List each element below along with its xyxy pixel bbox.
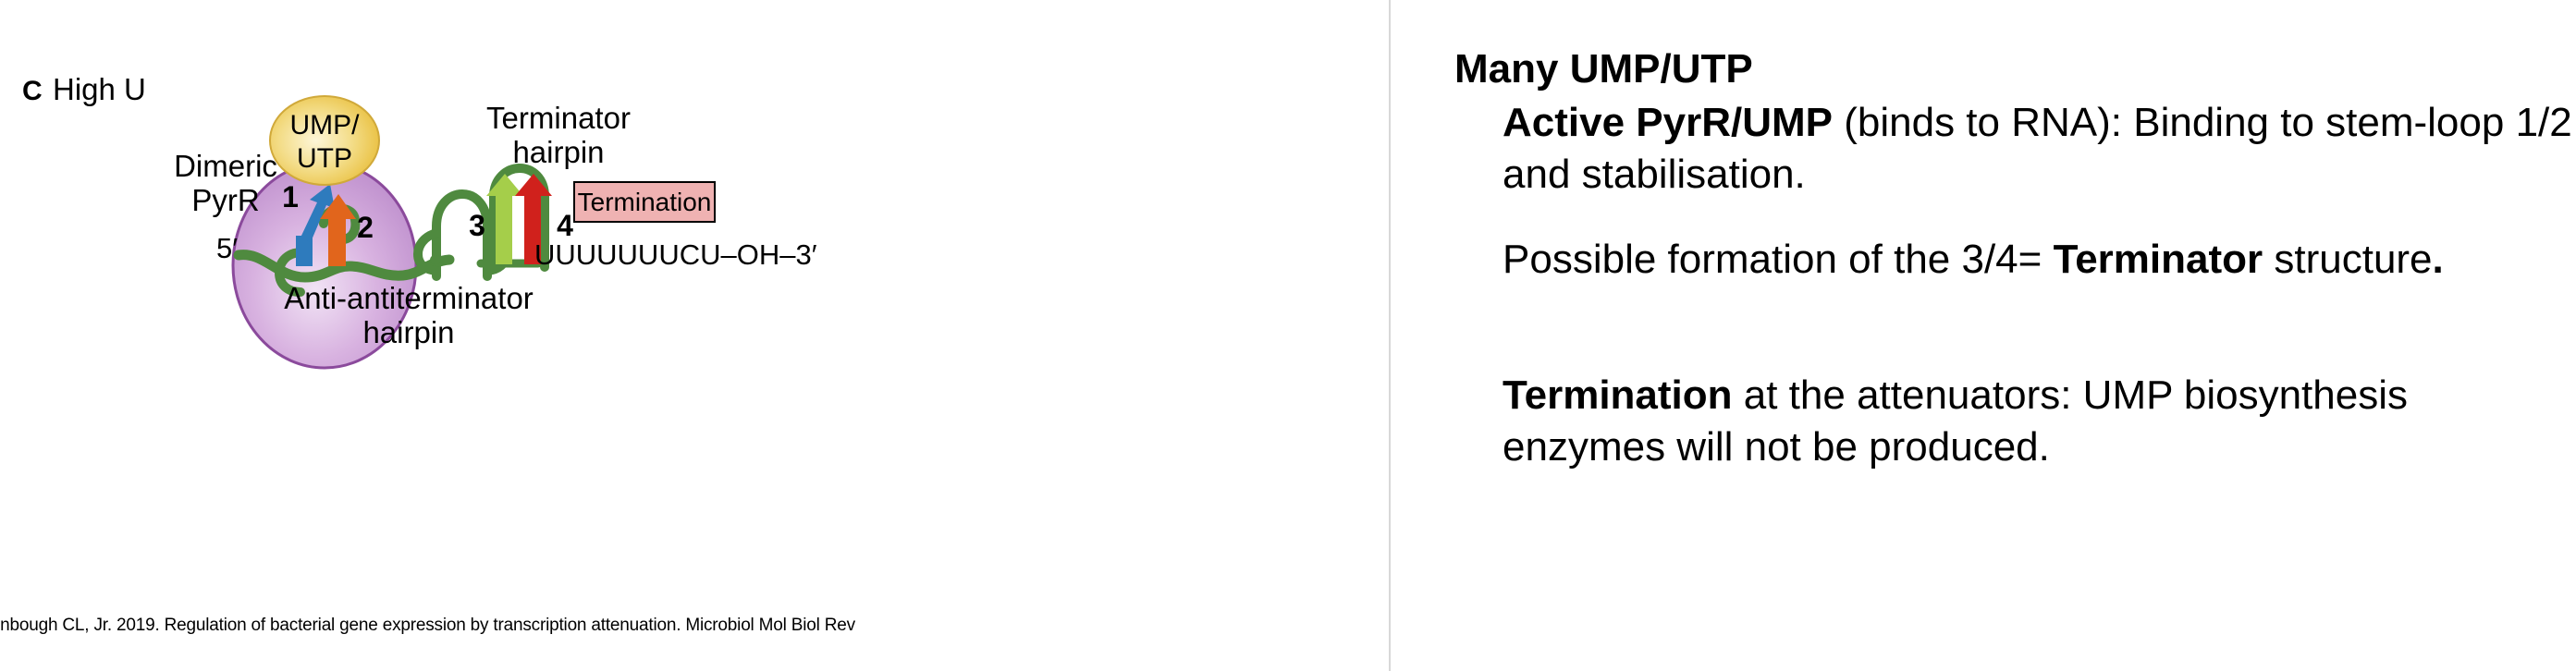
stem-number-4: 4 bbox=[557, 209, 573, 242]
rna-backbone-5prime bbox=[239, 255, 449, 277]
paragraph-termination: Termination at the attenuators: UMP bios… bbox=[1503, 370, 2575, 474]
panel-letter: C bbox=[22, 76, 43, 107]
panel-divider bbox=[1389, 0, 1391, 671]
anti-antiterminator-hairpin bbox=[436, 194, 487, 266]
arrow-1-blue-arrowhead bbox=[301, 184, 335, 242]
stem-number-3: 3 bbox=[469, 209, 485, 242]
panel-condition-label: High U bbox=[53, 72, 146, 107]
anti-antiterminator-bulge-left bbox=[418, 226, 436, 276]
stem-loop-1-2-loop bbox=[324, 209, 355, 240]
emphasis-text: Termination bbox=[1503, 372, 1733, 418]
label-five-prime: 5′ bbox=[216, 233, 238, 265]
termination-box-label: Termination bbox=[578, 188, 712, 217]
figure-citation: rnbough CL, Jr. 2019. Regulation of bact… bbox=[0, 616, 855, 636]
arrow-3-green-arrow bbox=[486, 174, 523, 264]
arrow-2-orange bbox=[320, 194, 356, 266]
text-panel: Many UMP/UTP Active PyrR/UMP (binds to R… bbox=[1424, 0, 2576, 671]
anti-antiterminator-bulge-right bbox=[487, 226, 506, 276]
ump-utp-line1: UMP/ bbox=[290, 110, 361, 140]
arrow-1-blue-lower-segment bbox=[296, 236, 313, 266]
attenuation-diagram: 1 2 3 4 UMP/ UTP bbox=[0, 0, 1387, 671]
emphasis-text: . bbox=[2433, 237, 2444, 282]
body-text: Possible formation of the 3/4= bbox=[1503, 237, 2054, 282]
figure-panel: C High U bbox=[0, 0, 1387, 671]
text-panel-heading: Many UMP/UTP bbox=[1454, 46, 1753, 92]
paragraph-terminator-structure: Possible formation of the 3/4= Terminato… bbox=[1503, 234, 2575, 286]
label-rna-3prime-sequence: UUUUUUUCU–OH–3′ bbox=[534, 239, 817, 272]
paragraph-active-pyrr: Active PyrR/UMP (binds to RNA): Binding … bbox=[1503, 97, 2575, 201]
ump-utp-line2: UTP bbox=[297, 143, 352, 174]
stem-number-2: 2 bbox=[357, 211, 374, 244]
termination-status-box: Termination bbox=[573, 181, 716, 223]
emphasis-text: Active PyrR/UMP bbox=[1503, 100, 1833, 145]
body-text: structure bbox=[2263, 237, 2432, 282]
label-terminator-hairpin: Terminatorhairpin bbox=[448, 102, 669, 170]
rna-backbone-to-terminator bbox=[436, 260, 504, 276]
label-dimeric-pyrr: DimericPyrR bbox=[152, 150, 300, 218]
emphasis-text: Terminator bbox=[2054, 237, 2263, 282]
label-anti-antiterminator-hairpin: Anti-antiterminatorhairpin bbox=[215, 282, 603, 350]
